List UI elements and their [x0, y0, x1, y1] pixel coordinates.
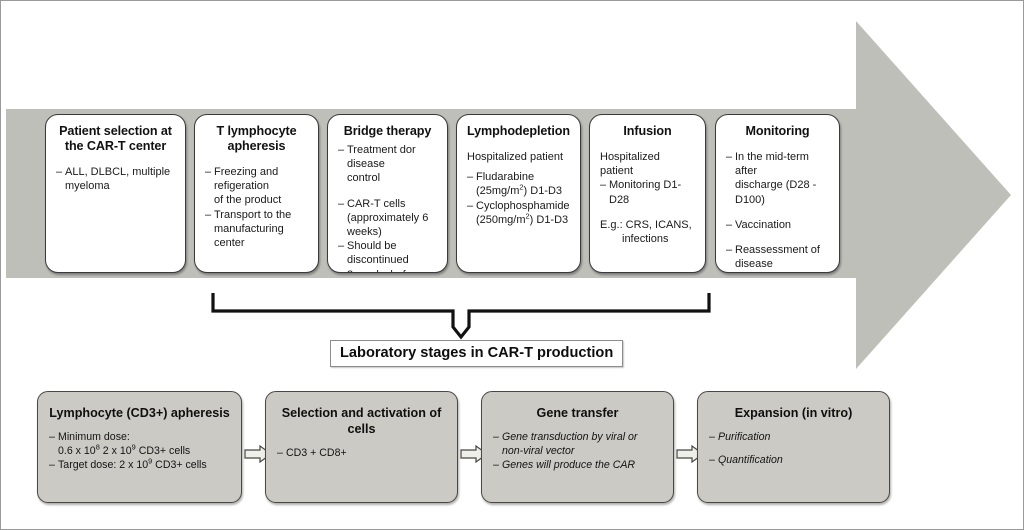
bullet-dash: –: [709, 430, 718, 444]
bullet-text-cont: of the product: [205, 193, 308, 207]
stage-body: –In the mid-term afterdischarge (D28 - D…: [726, 150, 829, 271]
laboratory-stages-caption: Laboratory stages in CAR-T production: [330, 340, 623, 367]
hospitalization-note: Hospitalized patient: [600, 150, 695, 178]
bullet-text: Transport to the: [214, 209, 291, 221]
bullet-text-cont: disease: [726, 257, 829, 271]
bullet-dash: –: [338, 197, 347, 211]
drug-name: Cyclophosphamide: [476, 200, 570, 212]
stage-card-lymphodepletion[interactable]: Lymphodepletion Hospitalized patient –Fl…: [456, 114, 581, 273]
bullet-dash: –: [467, 170, 476, 184]
lab-card-selection-activation[interactable]: Selection and activation of cells –CD3 +…: [265, 391, 458, 503]
bullet-text-cont: (approximately 6 weeks): [338, 211, 437, 239]
bullet-text-cont: manufacturing center: [205, 222, 308, 250]
stage-body: Hospitalized patient –Monitoring D1-D28 …: [600, 150, 695, 246]
stage-title: Monitoring: [726, 124, 829, 139]
stage-body: –Freezing and refigerationof the product…: [205, 165, 308, 250]
lab-title: Lymphocyte (CD3+) apheresis: [49, 405, 230, 421]
bullet-dash: –: [277, 446, 286, 460]
bullet-dash: –: [205, 165, 214, 179]
car-t-process-diagram: Patient selection at the CAR-T center –A…: [0, 0, 1024, 530]
stage-title: T lymphocyte apheresis: [205, 124, 308, 154]
laboratory-stages-bracket: [201, 289, 721, 344]
bullet-text: Quantification: [718, 454, 783, 466]
lab-card-lymphocyte-apheresis[interactable]: Lymphocyte (CD3+) apheresis –Minimum dos…: [37, 391, 242, 503]
bullet-text: CD3 + CD8+: [286, 447, 347, 459]
lab-body: –Minimum dose: 0.6 x 108 2 x 109 CD3+ ce…: [49, 430, 230, 472]
stage-body: –ALL, DLBCL, multiplemyeloma: [56, 165, 175, 193]
bullet-dash: –: [205, 208, 214, 222]
lab-title: Expansion (in vitro): [709, 405, 878, 421]
lab-body: –Purification –Quantification: [709, 430, 878, 467]
stage-card-patient-selection[interactable]: Patient selection at the CAR-T center –A…: [45, 114, 186, 273]
bullet-text: CAR-T cells: [347, 198, 405, 210]
bullet-text: Reassessment of: [735, 244, 820, 256]
bullet-dash: –: [49, 458, 58, 472]
stage-body: Hospitalized patient –Fludarabine(25mg/m…: [467, 150, 570, 227]
bullet-dash: –: [709, 453, 718, 467]
bullet-text: Genes will produce the CAR: [502, 459, 635, 471]
lab-card-gene-transfer[interactable]: Gene transfer –Gene transduction by vira…: [481, 391, 674, 503]
drug-name: Fludarabine: [476, 171, 534, 183]
adverse-events-example: E.g.: CRS, ICANS,: [600, 218, 695, 232]
stage-card-bridge-therapy[interactable]: Bridge therapy –Treatment dor diseasecon…: [327, 114, 448, 273]
bullet-text: Gene transduction by viral or: [502, 431, 637, 443]
bullet-dash: –: [467, 199, 476, 213]
bullet-text-cont: control: [338, 171, 437, 185]
lab-title: Gene transfer: [493, 405, 662, 421]
bullet-dash: –: [49, 430, 58, 444]
stage-title: Patient selection at the CAR-T center: [56, 124, 175, 154]
bullet-text: Freezing and refigeration: [214, 166, 278, 192]
bullet-dash: –: [726, 243, 735, 257]
stage-card-t-lymphocyte-apheresis[interactable]: T lymphocyte apheresis –Freezing and ref…: [194, 114, 319, 273]
bullet-text: Treatment dor disease: [347, 144, 416, 170]
bullet-text: Target dose: 2 x 109 CD3+ cells: [58, 459, 207, 471]
bullet-text: In the mid-term after: [735, 151, 809, 177]
bullet-dash: –: [600, 178, 609, 192]
bullet-dash: –: [726, 218, 735, 232]
bullet-dash: –: [338, 143, 347, 157]
lab-body: –CD3 + CD8+: [277, 446, 446, 460]
lab-title: Selection and activation of cells: [277, 405, 446, 437]
stage-body: –Treatment dor diseasecontrol –CAR-T cel…: [338, 143, 437, 273]
bullet-text: Monitoring D1-D28: [609, 179, 681, 205]
hospitalization-note: Hospitalized patient: [467, 150, 570, 164]
bullet-dash: –: [56, 165, 65, 179]
bullet-text: Purification: [718, 431, 770, 443]
bullet-text-cont: discharge (D28 - D100): [726, 178, 829, 206]
bullet-text: Vaccination: [735, 219, 791, 231]
bullet-dash: –: [493, 430, 502, 444]
dose-value: 0.6 x 108 2 x 109 CD3+ cells: [49, 444, 230, 458]
stage-card-monitoring[interactable]: Monitoring –In the mid-term afterdischar…: [715, 114, 840, 273]
bullet-text-cont: myeloma: [56, 179, 175, 193]
drug-dose: (250mg/m2) D1-D3: [467, 213, 570, 227]
drug-dose: (25mg/m2) D1-D3: [467, 184, 570, 198]
adverse-events-example-cont: infections: [600, 232, 695, 246]
bullet-text: Should be discontinued: [347, 240, 409, 266]
bullet-text: Minimum dose:: [58, 431, 130, 443]
bullet-dash: –: [726, 150, 735, 164]
stage-title: Bridge therapy: [338, 124, 437, 139]
stage-title: Lymphodepletion: [467, 124, 570, 139]
stage-title: Infusion: [600, 124, 695, 139]
stage-card-infusion[interactable]: Infusion Hospitalized patient –Monitorin…: [589, 114, 706, 273]
lab-card-expansion[interactable]: Expansion (in vitro) –Purification –Quan…: [697, 391, 890, 503]
bullet-text-cont: 2 weeks before the: [338, 268, 437, 273]
bullet-dash: –: [338, 239, 347, 253]
bullet-text: ALL, DLBCL, multiple: [65, 166, 170, 178]
lab-body: –Gene transduction by viral ornon-viral …: [493, 430, 662, 472]
bullet-text-cont: non-viral vector: [493, 444, 662, 458]
bullet-dash: –: [493, 458, 502, 472]
